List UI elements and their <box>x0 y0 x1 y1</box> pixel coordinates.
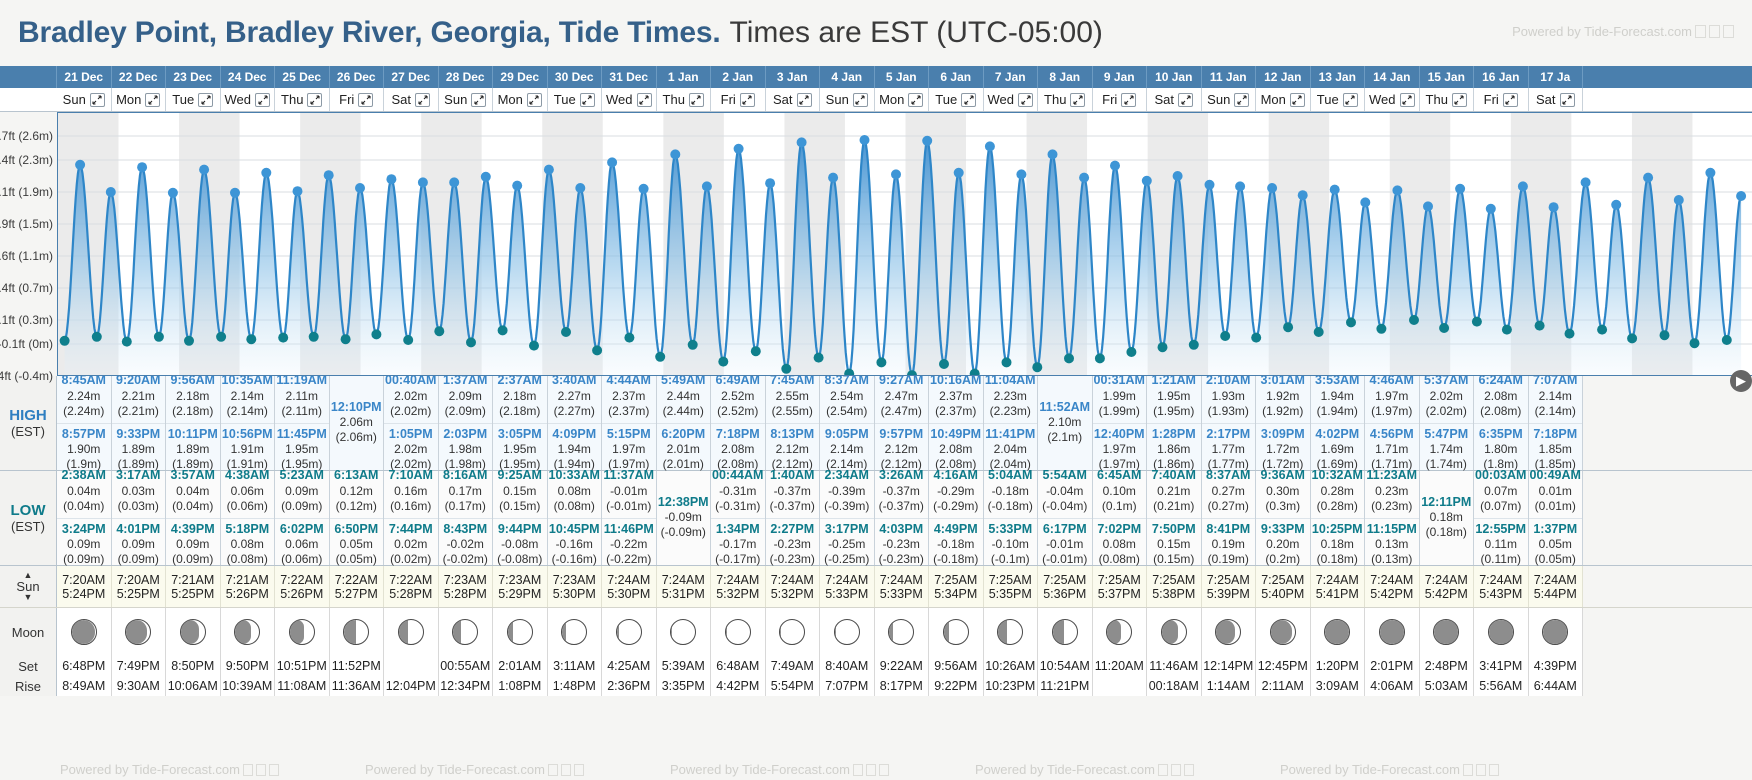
low-tide-cell[interactable]: 2:38AM0.04m(0.04m)3:24PM0.09m(0.09m) <box>57 471 112 565</box>
date-header-cell[interactable]: 26 Dec <box>330 66 385 88</box>
dayofweek-label: Sun <box>63 92 86 107</box>
dayofweek-cell[interactable]: Thu <box>1420 88 1475 111</box>
high-tide-point[interactable] <box>922 136 932 146</box>
dayofweek-cell[interactable]: Sun <box>439 88 494 111</box>
expand-day-icon[interactable] <box>1452 93 1467 107</box>
date-header-cell[interactable]: 27 Dec <box>384 66 439 88</box>
low-tide-cell[interactable]: 11:37AM-0.01m(-0.01m)11:46PM-0.22m(-0.22… <box>602 471 657 565</box>
high-tide-point[interactable] <box>199 165 209 175</box>
low-tide-cell[interactable]: 00:03AM0.07m(0.07m)12:55PM0.11m(0.11m) <box>1474 471 1529 565</box>
low-tide-point[interactable] <box>624 333 634 343</box>
moon-shadow <box>944 620 950 644</box>
date-header-cell[interactable]: 4 Jan <box>820 66 875 88</box>
tide-height-alt: (2.18m) <box>166 404 220 419</box>
tide-height: 1.71m <box>1365 442 1419 457</box>
high-tide-point[interactable] <box>1581 177 1591 187</box>
low-tide-cell[interactable]: 8:37AM0.27m(0.27m)8:41PM0.19m(0.19m) <box>1202 471 1257 565</box>
high-tide-point[interactable] <box>355 183 365 193</box>
flag-icon <box>561 764 571 776</box>
low-tide-cell[interactable]: 11:23AM0.23m(0.23m)11:15PM0.13m(0.13m) <box>1365 471 1420 565</box>
date-header-cell[interactable]: 5 Jan <box>875 66 930 88</box>
moon-shadow <box>671 620 672 644</box>
high-tide-point[interactable] <box>765 178 775 188</box>
date-header-cell[interactable]: 17 Ja <box>1529 66 1584 88</box>
low-tide-point[interactable] <box>1158 342 1168 352</box>
dayofweek-cell[interactable]: Sat <box>766 88 821 111</box>
low-tide-point[interactable] <box>592 345 602 355</box>
sunset-time: 5:31PM <box>662 587 705 601</box>
low-tide-cell[interactable]: 3:57AM0.04m(0.04m)4:39PM0.09m(0.09m) <box>166 471 221 565</box>
low-tide-point[interactable] <box>1472 317 1482 327</box>
expand-day-icon[interactable] <box>1018 93 1033 107</box>
tide-event: 00:31AM1.99m(1.99m) <box>1093 370 1147 423</box>
tide-curve-plot[interactable] <box>57 112 1752 376</box>
high-tide-point[interactable] <box>1392 185 1402 195</box>
sun-cell: 7:20AM5:25PM <box>112 566 167 607</box>
high-tide-point[interactable] <box>1736 191 1746 201</box>
low-tide-point[interactable] <box>1251 333 1261 343</box>
expand-day-icon[interactable] <box>637 93 652 107</box>
expand-day-icon[interactable] <box>1234 93 1249 107</box>
low-tide-cell[interactable]: 7:40AM0.21m(0.21m)7:50PM0.15m(0.15m) <box>1147 471 1202 565</box>
tide-height: 0.15m <box>1147 537 1201 552</box>
date-header-cell[interactable]: 14 Jan <box>1365 66 1420 88</box>
high-tide-point[interactable] <box>1455 184 1465 194</box>
low-tide-point[interactable] <box>814 353 824 363</box>
low-tide-cell[interactable]: 10:33AM0.08m(0.08m)10:45PM-0.16m(-0.16m) <box>548 471 603 565</box>
low-tide-cell[interactable]: 3:17AM0.03m(0.03m)4:01PM0.09m(0.09m) <box>112 471 167 565</box>
high-tide-cell[interactable]: 9:56AM2.18m(2.18m)10:11PM1.89m(1.89m) <box>166 376 221 470</box>
low-tide-point[interactable] <box>60 336 70 346</box>
high-tide-cell[interactable]: 6:24AM2.08m(2.08m)6:35PM1.80m(1.8m) <box>1474 376 1529 470</box>
high-tide-cell[interactable]: 11:19AM2.11m(2.11m)11:45PM1.95m(1.95m) <box>275 376 330 470</box>
date-header-cell[interactable]: 6 Jan <box>929 66 984 88</box>
high-tide-cell[interactable]: 7:07AM2.14m(2.14m)7:18PM1.85m(1.85m) <box>1529 376 1584 470</box>
low-tide-point[interactable] <box>1660 330 1670 340</box>
moon-phase-icon <box>1324 619 1350 645</box>
low-tide-cell[interactable]: 9:36AM0.30m(0.3m)9:33PM0.20m(0.2m) <box>1256 471 1311 565</box>
low-tide-point[interactable] <box>876 357 886 367</box>
low-tide-point[interactable] <box>1064 353 1074 363</box>
low-tide-point[interactable] <box>278 333 288 343</box>
high-tide-point[interactable] <box>1016 169 1026 179</box>
low-tide-point[interactable] <box>1409 315 1419 325</box>
high-tide-point[interactable] <box>1611 200 1621 210</box>
low-tide-point[interactable] <box>688 340 698 350</box>
high-tide-point[interactable] <box>1674 195 1684 205</box>
dayofweek-cell[interactable]: Mon <box>493 88 548 111</box>
high-tide-cell[interactable]: 00:31AM1.99m(1.99m)12:40PM1.97m(1.97m) <box>1093 376 1148 470</box>
dayofweek-cell[interactable]: Fri <box>711 88 766 111</box>
tide-event: 2:34AM-0.39m(-0.39m) <box>820 465 874 518</box>
low-tide-cell[interactable]: 5:54AM-0.04m(-0.04m)6:17PM-0.01m(-0.01m) <box>1038 471 1093 565</box>
date-header-cell[interactable]: 7 Jan <box>984 66 1039 88</box>
low-tide-point[interactable] <box>751 346 761 356</box>
high-tide-cell[interactable]: 10:35AM2.14m(2.14m)10:56PM1.91m(1.91m) <box>221 376 276 470</box>
low-tide-cell[interactable]: 4:38AM0.06m(0.06m)5:18PM0.08m(0.08m) <box>221 471 276 565</box>
high-tide-point[interactable] <box>168 188 178 198</box>
tide-height-alt: (2.09m) <box>439 404 493 419</box>
high-tide-cell[interactable]: 12:10PM2.06m(2.06m) <box>330 376 385 470</box>
high-tide-point[interactable] <box>1549 202 1559 212</box>
tide-height-alt: (-0.23m) <box>766 552 820 567</box>
high-tide-cell[interactable]: 4:44AM2.37m(2.37m)5:15PM1.97m(1.97m) <box>602 376 657 470</box>
high-tide-point[interactable] <box>1142 176 1152 186</box>
expand-day-icon[interactable] <box>415 93 430 107</box>
expand-day-icon[interactable] <box>853 93 868 107</box>
date-header-cell[interactable]: 1 Jan <box>657 66 712 88</box>
high-tide-point[interactable] <box>449 177 459 187</box>
low-tide-point[interactable] <box>1346 317 1356 327</box>
moon-phase-icon <box>888 619 914 645</box>
low-tide-point[interactable] <box>781 364 791 374</box>
moon-shadow <box>1053 620 1064 644</box>
dayofweek-cell[interactable]: Thu <box>657 88 712 111</box>
y-axis-tick-label: -1.4ft (-0.4m) <box>0 369 53 383</box>
low-tide-point[interactable] <box>655 352 665 362</box>
tide-height: 0.03m <box>112 484 166 499</box>
low-tide-point[interactable] <box>561 327 571 337</box>
high-tide-point[interactable] <box>670 149 680 159</box>
tide-event: 3:17PM-0.25m(-0.25m) <box>820 518 874 572</box>
high-tide-point[interactable] <box>106 187 116 197</box>
low-tide-point[interactable] <box>718 357 728 367</box>
low-tide-point[interactable] <box>1722 335 1732 345</box>
low-tide-point[interactable] <box>1502 325 1512 335</box>
high-tide-point[interactable] <box>386 174 396 184</box>
sunrise-time: 7:25AM <box>989 573 1032 587</box>
date-header-cell[interactable]: 9 Jan <box>1093 66 1148 88</box>
high-tide-point[interactable] <box>828 173 838 183</box>
dayofweek-cell[interactable]: Fri <box>330 88 385 111</box>
low-tide-point[interactable] <box>92 332 102 342</box>
low-tide-point[interactable] <box>1283 322 1293 332</box>
high-tide-point[interactable] <box>544 165 554 175</box>
high-tide-point[interactable] <box>702 181 712 191</box>
low-tide-point[interactable] <box>403 335 413 345</box>
dayofweek-cell[interactable]: Mon <box>112 88 167 111</box>
moonrise-cell: 3:35PM <box>657 676 712 696</box>
date-header-cell[interactable]: 8 Jan <box>1038 66 1093 88</box>
low-tide-cell[interactable]: 10:32AM0.28m(0.28m)10:25PM0.18m(0.18m) <box>1311 471 1366 565</box>
tide-height-alt: (1.95m) <box>1147 404 1201 419</box>
moon-phase-icon <box>1215 619 1241 645</box>
dayofweek-cell[interactable]: Tue <box>1311 88 1366 111</box>
low-tide-cell[interactable]: 12:11PM0.18m(0.18m) <box>1420 471 1475 565</box>
high-tide-point[interactable] <box>512 181 522 191</box>
date-header-cell[interactable]: 10 Jan <box>1147 66 1202 88</box>
low-tide-point[interactable] <box>1002 357 1012 367</box>
low-tide-point[interactable] <box>939 359 949 369</box>
high-tide-point[interactable] <box>1423 201 1433 211</box>
high-tide-cell[interactable]: 9:20AM2.21m(2.21m)9:33PM1.89m(1.89m) <box>112 376 167 470</box>
date-header-cell[interactable]: 16 Jan <box>1474 66 1529 88</box>
date-header-cell[interactable]: 3 Jan <box>766 66 821 88</box>
date-header-cell[interactable]: 30 Dec <box>548 66 603 88</box>
moonrise-cell: 4:06AM <box>1365 676 1420 696</box>
dayofweek-cell[interactable]: Mon <box>875 88 930 111</box>
date-header-cell[interactable]: 31 Dec <box>602 66 657 88</box>
high-tide-cell[interactable]: 11:04AM2.23m(2.23m)11:41PM2.04m(2.04m) <box>984 376 1039 470</box>
low-tide-cell[interactable]: 7:10AM0.16m(0.16m)7:44PM0.02m(0.02m) <box>384 471 439 565</box>
high-tide-point[interactable] <box>860 135 870 145</box>
high-tide-point[interactable] <box>261 168 271 178</box>
high-tide-cell[interactable]: 1:21AM1.95m(1.95m)1:28PM1.86m(1.86m) <box>1147 376 1202 470</box>
dayofweek-cell[interactable]: Fri <box>1474 88 1529 111</box>
tide-height: -0.23m <box>766 537 820 552</box>
expand-day-icon[interactable] <box>797 93 812 107</box>
low-tide-point[interactable] <box>1032 362 1042 372</box>
expand-day-icon[interactable] <box>198 93 213 107</box>
high-tide-point[interactable] <box>418 177 428 187</box>
expand-day-icon[interactable] <box>1400 93 1415 107</box>
high-tide-point[interactable] <box>1486 204 1496 214</box>
high-tide-cell[interactable]: 7:45AM2.55m(2.55m)8:13PM2.12m(2.12m) <box>766 376 821 470</box>
high-tide-point[interactable] <box>137 162 147 172</box>
moonset-cell: 6:48AM <box>711 656 766 676</box>
sunrise-time: 7:22AM <box>280 573 323 587</box>
expand-day-icon[interactable] <box>358 93 373 107</box>
high-tide-cell[interactable]: 4:46AM1.97m(1.97m)4:56PM1.71m(1.71m) <box>1365 376 1420 470</box>
low-tide-point[interactable] <box>1095 353 1105 363</box>
high-tide-point[interactable] <box>1330 185 1340 195</box>
low-tide-point[interactable] <box>1126 347 1136 357</box>
expand-day-icon[interactable] <box>1503 93 1518 107</box>
dayofweek-cell[interactable]: Mon <box>1256 88 1311 111</box>
low-tide-point[interactable] <box>184 336 194 346</box>
high-tide-cell[interactable]: 6:49AM2.52m(2.52m)7:18PM2.08m(2.08m) <box>711 376 766 470</box>
expand-day-icon[interactable] <box>1290 93 1305 107</box>
high-tide-point[interactable] <box>481 172 491 182</box>
high-tide-point[interactable] <box>639 184 649 194</box>
moon-phase-icon <box>452 619 478 645</box>
high-tide-point[interactable] <box>985 141 995 151</box>
dayofweek-cell[interactable]: Tue <box>166 88 221 111</box>
high-tide-point[interactable] <box>1705 168 1715 178</box>
high-tide-point[interactable] <box>891 169 901 179</box>
expand-day-icon[interactable] <box>471 93 486 107</box>
low-tide-cell[interactable]: 00:44AM-0.31m(-0.31m)1:34PM-0.17m(-0.17m… <box>711 471 766 565</box>
high-tide-cell[interactable]: 5:49AM2.44m(2.44m)6:20PM2.01m(2.01m) <box>657 376 712 470</box>
high-tide-point[interactable] <box>797 137 807 147</box>
tide-event: 4:46AM1.97m(1.97m) <box>1365 370 1419 423</box>
low-tide-cell[interactable]: 4:16AM-0.29m(-0.29m)4:49PM-0.18m(-0.18m) <box>929 471 984 565</box>
dayofweek-cell[interactable]: Tue <box>929 88 984 111</box>
date-header-cell[interactable]: 29 Dec <box>493 66 548 88</box>
expand-day-icon[interactable] <box>1343 93 1358 107</box>
date-header-cell[interactable]: 21 Dec <box>57 66 112 88</box>
dayofweek-cell[interactable]: Thu <box>275 88 330 111</box>
moonrise-cell: 5:03AM <box>1420 676 1475 696</box>
high-tide-point[interactable] <box>1235 181 1245 191</box>
high-tide-point[interactable] <box>1298 190 1308 200</box>
expand-day-icon[interactable] <box>145 93 160 107</box>
high-tide-point[interactable] <box>1079 173 1089 183</box>
low-tide-point[interactable] <box>371 329 381 339</box>
tide-height: 2.01m <box>657 442 711 457</box>
high-tide-point[interactable] <box>324 170 334 180</box>
tide-height: 0.07m <box>1474 484 1528 499</box>
low-tide-cell[interactable]: 2:34AM-0.39m(-0.39m)3:17PM-0.25m(-0.25m) <box>820 471 875 565</box>
high-tide-point[interactable] <box>1267 183 1277 193</box>
expand-day-icon[interactable] <box>1121 93 1136 107</box>
high-tide-point[interactable] <box>230 188 240 198</box>
tide-height-alt: (0.28m) <box>1311 499 1365 514</box>
high-tide-point[interactable] <box>1643 173 1653 183</box>
low-tide-point[interactable] <box>341 334 351 344</box>
date-header-cell[interactable]: 23 Dec <box>166 66 221 88</box>
low-tide-cell[interactable]: 9:25AM0.15m(0.15m)9:44PM-0.08m(-0.08m) <box>493 471 548 565</box>
tide-height-alt: (0.18m) <box>1311 552 1365 567</box>
low-tide-cell[interactable]: 3:26AM-0.37m(-0.37m)4:03PM-0.23m(-0.23m) <box>875 471 930 565</box>
low-tide-point[interactable] <box>1565 329 1575 339</box>
low-tide-cell[interactable]: 6:45AM0.10m(0.1m)7:02PM0.08m(0.08m) <box>1093 471 1148 565</box>
expand-day-icon[interactable] <box>1178 93 1193 107</box>
expand-day-icon[interactable] <box>1070 93 1085 107</box>
high-tide-cell[interactable]: 3:53AM1.94m(1.94m)4:02PM1.69m(1.69m) <box>1311 376 1366 470</box>
high-tide-cell[interactable]: 10:16AM2.37m(2.37m)10:49PM2.08m(2.08m) <box>929 376 984 470</box>
low-tide-cell[interactable]: 8:16AM0.17m(0.17m)8:43PM-0.02m(-0.02m) <box>439 471 494 565</box>
flag-icon <box>853 764 863 776</box>
tide-height: 0.05m <box>330 537 384 552</box>
low-tide-point[interactable] <box>1690 338 1700 348</box>
high-tide-point[interactable] <box>1173 171 1183 181</box>
high-tide-point[interactable] <box>575 183 585 193</box>
high-tide-cell[interactable]: 5:37AM2.02m(2.02m)5:47PM1.74m(1.74m) <box>1420 376 1475 470</box>
low-tide-point[interactable] <box>1314 327 1324 337</box>
high-tide-point[interactable] <box>1360 197 1370 207</box>
high-tide-cell[interactable]: 11:52AM2.10m(2.1m) <box>1038 376 1093 470</box>
high-tide-cell[interactable]: 3:01AM1.92m(1.92m)3:09PM1.72m(1.72m) <box>1256 376 1311 470</box>
dayofweek-cell[interactable]: Wed <box>1365 88 1420 111</box>
expand-day-icon[interactable] <box>307 93 322 107</box>
dayofweek-cell[interactable]: Sun <box>57 88 112 111</box>
moonset-cell: 3:41PM <box>1474 656 1529 676</box>
low-tide-point[interactable] <box>1597 325 1607 335</box>
low-tide-cell[interactable]: 6:13AM0.12m(0.12m)6:50PM0.05m(0.05m) <box>330 471 385 565</box>
high-tide-point[interactable] <box>75 160 85 170</box>
low-tide-cell[interactable]: 5:04AM-0.18m(-0.18m)5:33PM-0.10m(-0.1m) <box>984 471 1039 565</box>
low-tide-cell[interactable]: 00:49AM0.01m(0.01m)1:37PM0.05m(0.05m) <box>1529 471 1584 565</box>
dayofweek-cell[interactable]: Wed <box>221 88 276 111</box>
dayofweek-cell[interactable]: Fri <box>1093 88 1148 111</box>
low-tide-point[interactable] <box>529 341 539 351</box>
high-tide-point[interactable] <box>954 168 964 178</box>
tide-height: 0.05m <box>1529 537 1583 552</box>
high-tide-cell[interactable]: 2:37AM2.18m(2.18m)3:05PM1.95m(1.95m) <box>493 376 548 470</box>
date-header-cell[interactable]: 15 Jan <box>1420 66 1475 88</box>
high-tide-point[interactable] <box>607 157 617 167</box>
high-tide-cell[interactable]: 3:40AM2.27m(2.27m)4:09PM1.94m(1.94m) <box>548 376 603 470</box>
expand-day-icon[interactable] <box>580 93 595 107</box>
tide-time: 8:16AM <box>439 468 493 484</box>
moonset-cell: 5:39AM <box>657 656 712 676</box>
low-tide-point[interactable] <box>1220 331 1230 341</box>
date-header-cell[interactable]: 2 Jan <box>711 66 766 88</box>
high-tide-point[interactable] <box>1518 181 1528 191</box>
high-tide-point[interactable] <box>1205 180 1215 190</box>
expand-day-icon[interactable] <box>740 93 755 107</box>
tide-height-alt: (-0.29m) <box>929 499 983 514</box>
expand-day-icon[interactable] <box>908 93 923 107</box>
high-tide-point[interactable] <box>1048 149 1058 159</box>
tide-event: 5:49AM2.44m(2.44m) <box>657 370 711 423</box>
date-header-cell[interactable]: 24 Dec <box>221 66 276 88</box>
low-tide-point[interactable] <box>154 332 164 342</box>
tide-height: 0.16m <box>384 484 438 499</box>
high-tide-cell[interactable]: 9:27AM2.47m(2.47m)9:57PM2.12m(2.12m) <box>875 376 930 470</box>
date-header-cell[interactable]: 12 Jan <box>1256 66 1311 88</box>
date-header-cell[interactable]: 11 Jan <box>1202 66 1257 88</box>
tide-event: 6:17PM-0.01m(-0.01m) <box>1038 518 1092 572</box>
dayofweek-cell[interactable]: Tue <box>548 88 603 111</box>
scroll-right-button[interactable]: ▶ <box>1730 370 1752 392</box>
expand-day-icon[interactable] <box>90 93 105 107</box>
high-tide-point[interactable] <box>734 144 744 154</box>
low-tide-point[interactable] <box>122 337 132 347</box>
low-tide-point[interactable] <box>1535 321 1545 331</box>
tide-height-alt: (0.11m) <box>1474 552 1528 567</box>
dayofweek-cell[interactable]: Wed <box>984 88 1039 111</box>
low-tide-point[interactable] <box>434 326 444 336</box>
high-tide-point[interactable] <box>1110 161 1120 171</box>
high-tide-point[interactable] <box>293 186 303 196</box>
low-tide-cell[interactable]: 12:38PM-0.09m(-0.09m) <box>657 471 712 565</box>
date-header-cell[interactable]: 22 Dec <box>112 66 167 88</box>
dayofweek-cell[interactable]: Sat <box>384 88 439 111</box>
expand-day-icon[interactable] <box>527 93 542 107</box>
flag-icon <box>243 764 253 776</box>
moon-phase-icon <box>1433 619 1459 645</box>
sun-cell: 7:24AM5:30PM <box>602 566 657 607</box>
date-header-cell[interactable]: 13 Jan <box>1311 66 1366 88</box>
high-tide-cell[interactable]: 1:37AM2.09m(2.09m)2:03PM1.98m(1.98m) <box>439 376 494 470</box>
date-header-cell[interactable]: 28 Dec <box>439 66 494 88</box>
high-tide-cell[interactable]: 2:10AM1.93m(1.93m)2:17PM1.77m(1.77m) <box>1202 376 1257 470</box>
low-tide-point[interactable] <box>309 332 319 342</box>
expand-day-icon[interactable] <box>1560 93 1575 107</box>
dayofweek-header-row: SunMonTueWedThuFriSatSunMonTueWedThuFriS… <box>0 88 1752 112</box>
date-header-cell[interactable]: 25 Dec <box>275 66 330 88</box>
expand-day-icon[interactable] <box>961 93 976 107</box>
tide-height: 1.99m <box>1093 389 1147 404</box>
low-tide-cell[interactable]: 1:40AM-0.37m(-0.37m)2:27PM-0.23m(-0.23m) <box>766 471 821 565</box>
high-tide-cell[interactable]: 8:45AM2.24m(2.24m)8:57PM1.90m(1.9m) <box>57 376 112 470</box>
high-tide-cell[interactable]: 8:37AM2.54m(2.54m)9:05PM2.14m(2.14m) <box>820 376 875 470</box>
dayofweek-cell[interactable]: Sat <box>1529 88 1584 111</box>
low-tide-point[interactable] <box>466 337 476 347</box>
expand-day-icon[interactable] <box>689 93 704 107</box>
dayofweek-cell[interactable]: Sun <box>820 88 875 111</box>
low-tide-point[interactable] <box>498 325 508 335</box>
dayofweek-cell[interactable]: Sat <box>1147 88 1202 111</box>
tide-event: 5:47PM1.74m(1.74m) <box>1420 423 1474 477</box>
expand-day-icon[interactable] <box>255 93 270 107</box>
low-tide-point[interactable] <box>1627 333 1637 343</box>
moonrise-cell: 1:08PM <box>493 676 548 696</box>
low-tide-point[interactable] <box>1189 340 1199 350</box>
low-tide-point[interactable] <box>246 334 256 344</box>
low-tide-point[interactable] <box>216 332 226 342</box>
tide-event: 3:40AM2.27m(2.27m) <box>548 370 602 423</box>
dayofweek-cell[interactable]: Wed <box>602 88 657 111</box>
low-tide-point[interactable] <box>1376 324 1386 334</box>
low-tide-point[interactable] <box>1439 323 1449 333</box>
dayofweek-cell[interactable]: Sun <box>1202 88 1257 111</box>
dayofweek-cell[interactable]: Thu <box>1038 88 1093 111</box>
low-tide-cell[interactable]: 5:23AM0.09m(0.09m)6:02PM0.06m(0.06m) <box>275 471 330 565</box>
high-tide-cell[interactable]: 00:40AM2.02m(2.02m)1:05PM2.02m(2.02m) <box>384 376 439 470</box>
